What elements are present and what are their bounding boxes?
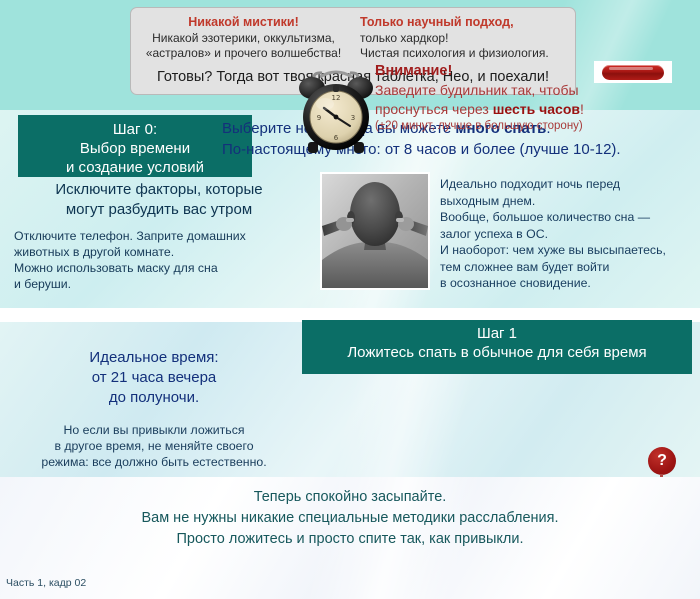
closing-line-1: Теперь спокойно засыпайте.	[0, 487, 700, 508]
step0-left-body: Отключите телефон. Заприте домашних живо…	[14, 228, 304, 292]
step1-badge-line-1: Шаг 1	[302, 324, 692, 343]
intro-column-left: Никакой мистики! Никакой эзотерики, окку…	[141, 15, 346, 61]
intro-right-line-1: только хардкор!	[360, 31, 565, 46]
intro-left-heading: Никакой мистики!	[141, 15, 346, 30]
step0-right-line: в осознанное сновидение.	[440, 275, 695, 292]
step0-badge-line-3: и создание условий	[18, 158, 252, 177]
step1-left-body-line: режима: все должно быть естественно.	[10, 454, 298, 470]
step1-hours-emphasis: шесть часов	[493, 101, 580, 117]
svg-text:3: 3	[351, 114, 355, 122]
closing-panel: Теперь спокойно засыпайте. Вам не нужны …	[0, 477, 700, 599]
closing-line-3: Просто ложитесь и просто спите так, как …	[0, 529, 700, 550]
step0-right-line: залог успеха в ОС.	[440, 226, 695, 243]
closing-line-2: Вам не нужны никакие специальные методик…	[0, 508, 700, 529]
svg-text:9: 9	[317, 114, 321, 122]
attention-heading: Внимание!	[375, 62, 645, 81]
question-mark-icon: ?	[648, 447, 676, 475]
step1-left-body-line: Но если вы привыкли ложиться	[10, 422, 298, 438]
infographic-page: Никакой мистики! Никакой эзотерики, окку…	[0, 0, 700, 599]
intro-left-line-2: «астралов» и прочего волшебства!	[141, 46, 346, 61]
step0-right-line: Вообще, большое количество сна —	[440, 209, 695, 226]
step1-right-column: Внимание! Заведите будильник так, чтобы …	[375, 62, 645, 134]
intro-left-line-1: Никакой эзотерики, оккультизма,	[141, 31, 346, 46]
intro-column-right: Только научный подход, только хардкор! Ч…	[360, 15, 565, 61]
step1-left-heading-2: от 21 часа вечера	[10, 368, 298, 388]
step0-left-body-line: Отключите телефон. Заприте домашних	[14, 228, 304, 244]
step1-badge-line-2: Ложитесь спать в обычное для себя время	[302, 343, 692, 362]
step0-right-line: И наоборот: чем хуже вы высыпаетесь,	[440, 242, 695, 259]
step0-right-line: тем сложнее вам будет войти	[440, 259, 695, 276]
svg-text:12: 12	[332, 94, 341, 102]
step0-badge-line-1: Шаг 0:	[18, 120, 252, 139]
footer-caption: Часть 1, кадр 02	[6, 577, 86, 590]
step1-left-body: Но если вы привыкли ложиться в другое вр…	[10, 422, 298, 470]
step1-panel: Шаг 1 Ложитесь спать в обычное для себя …	[0, 322, 700, 477]
step0-top-line-2: По-настоящему много: от 8 часов и более …	[222, 139, 692, 160]
step0-left-heading-1: Исключите факторы, которые	[14, 180, 304, 200]
intro-right-line-2: Чистая психология и физиология.	[360, 46, 565, 61]
step1-badge: Шаг 1 Ложитесь спать в обычное для себя …	[302, 320, 692, 374]
step0-left-body-line: животных в другой комнате.	[14, 244, 304, 260]
step1-left-heading-1: Идеальное время:	[10, 348, 298, 368]
step0-left-body-line: Можно использовать маску для сна	[14, 260, 304, 276]
step1-right-line-2: проснуться через шесть часов!	[375, 100, 645, 119]
alarm-clock-icon: 12 3 6 9	[294, 68, 378, 156]
step0-right-column: Идеально подходит ночь перед выходным дн…	[440, 176, 695, 292]
step1-right-line-2c: !	[580, 101, 584, 117]
step0-right-line: выходным днем.	[440, 193, 695, 210]
step1-left-column: Идеальное время: от 21 часа вечера до по…	[10, 348, 298, 470]
step0-left-heading-2: могут разбудить вас утром	[14, 200, 304, 220]
step1-right-line-3: (±20 минут, лучше в большую сторону)	[375, 119, 645, 134]
step0-left-column: Исключите факторы, которые могут разбуди…	[14, 180, 304, 292]
step0-right-line: Идеально подходит ночь перед	[440, 176, 695, 193]
step0-left-body-line: и беруши.	[14, 276, 304, 292]
step1-right-line-1: Заведите будильник так, чтобы	[375, 81, 645, 100]
intro-right-heading: Только научный подход,	[360, 15, 565, 30]
svg-text:6: 6	[334, 134, 339, 142]
closing-text: Теперь спокойно засыпайте. Вам не нужны …	[0, 487, 700, 550]
step1-left-heading-3: до полуночи.	[10, 388, 298, 408]
step0-badge-line-2: Выбор времени	[18, 139, 252, 158]
step0-badge: Шаг 0: Выбор времени и создание условий	[18, 115, 252, 177]
ears-plugged-photo-graphic	[322, 174, 428, 288]
alarm-clock-graphic: 12 3 6 9	[294, 68, 378, 156]
step1-left-body-line: в другое время, не меняйте своего	[10, 438, 298, 454]
ears-plugged-photo	[320, 172, 430, 290]
step1-right-line-2a: проснуться через	[375, 101, 493, 117]
